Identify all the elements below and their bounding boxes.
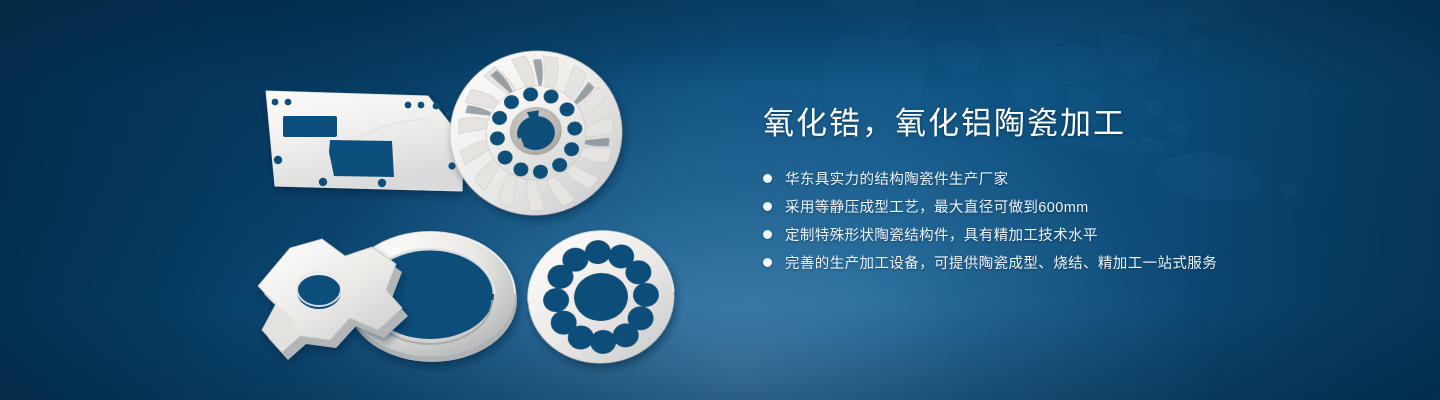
ceramic-perforated-disc-part <box>524 226 679 368</box>
ceramic-plate-part <box>266 91 463 191</box>
bullet-dot-icon <box>763 202 772 211</box>
feature-text: 华东具实力的结构陶瓷件生产厂家 <box>785 168 1009 189</box>
feature-list: 华东具实力的结构陶瓷件生产厂家 采用等静压成型工艺，最大直径可做到600mm 定… <box>763 166 1403 275</box>
ceramic-products-image <box>0 0 720 400</box>
list-item: 定制特殊形状陶瓷结构件，具有精加工技术水平 <box>763 222 1403 247</box>
page-title: 氧化锆，氧化铝陶瓷加工 <box>763 108 1403 139</box>
feature-text: 完善的生产加工设备，可提供陶瓷成型、烧结、精加工一站式服务 <box>785 252 1217 273</box>
feature-text: 定制特殊形状陶瓷结构件，具有精加工技术水平 <box>785 224 1098 245</box>
ceramic-impeller-part <box>439 40 632 226</box>
banner-copy: 氧化锆，氧化铝陶瓷加工 华东具实力的结构陶瓷件生产厂家 采用等静压成型工艺，最大… <box>763 108 1403 278</box>
feature-text: 采用等静压成型工艺，最大直径可做到600mm <box>785 196 1089 217</box>
list-item: 完善的生产加工设备，可提供陶瓷成型、烧结、精加工一站式服务 <box>763 250 1403 275</box>
promo-banner: 氧化锆，氧化铝陶瓷加工 华东具实力的结构陶瓷件生产厂家 采用等静压成型工艺，最大… <box>0 0 1440 400</box>
bullet-dot-icon <box>763 230 772 239</box>
bullet-dot-icon <box>763 174 772 183</box>
bullet-dot-icon <box>763 258 772 267</box>
list-item: 采用等静压成型工艺，最大直径可做到600mm <box>763 194 1403 219</box>
list-item: 华东具实力的结构陶瓷件生产厂家 <box>763 166 1403 191</box>
